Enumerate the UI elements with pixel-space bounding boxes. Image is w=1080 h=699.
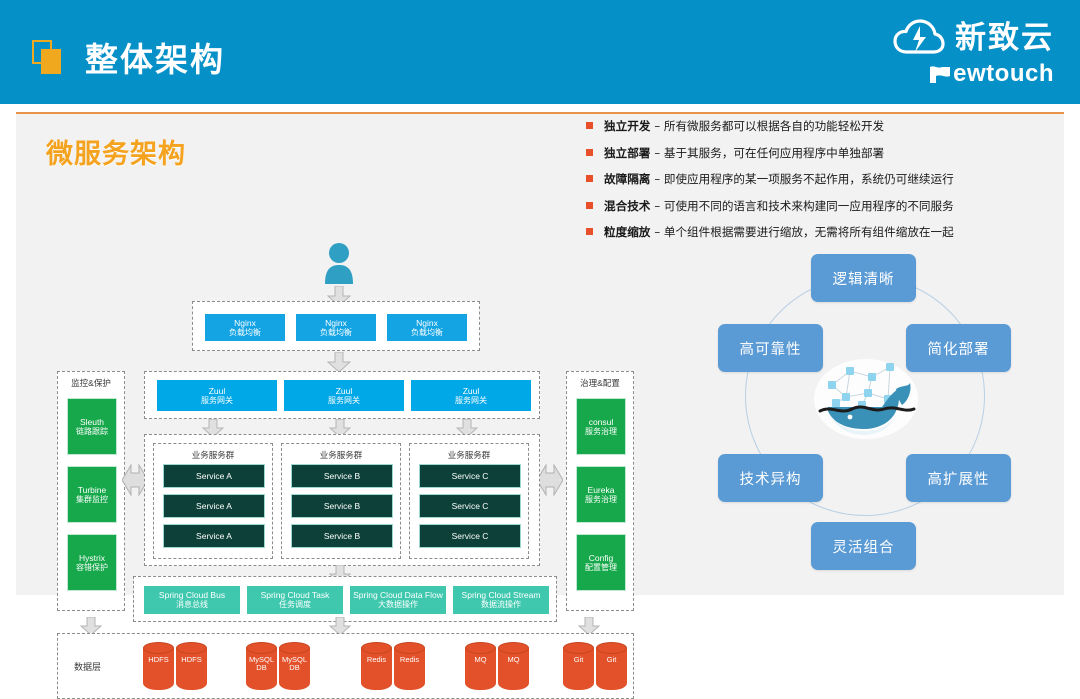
spring-cloud-stream-box: Spring Cloud Stream 数据流操作 <box>453 586 549 614</box>
zuul-box-1: Zuul 服务网关 <box>157 380 277 411</box>
config-box: Config 配置管理 <box>576 534 626 591</box>
cloud-lightning-icon <box>893 19 945 57</box>
service-box: Service A <box>163 494 265 518</box>
nginx-box-2: Nginx 负载均衡 <box>296 314 376 341</box>
page-header: 整体架构 新致云 ewtouch <box>0 0 1080 104</box>
service-box: Service C <box>419 524 521 548</box>
eureka-box: Eureka 服务治理 <box>576 466 626 523</box>
slide-content-panel: 微服务架构 Nginx 负载均衡 Nginx 负载均衡 Nginx 负载均衡 <box>16 112 1064 595</box>
service-box: Service B <box>291 494 393 518</box>
list-item: 独立开发 – 所有微服务都可以根据各自的功能轻松开发 <box>586 118 1064 134</box>
datastore-cylinder: Redis <box>361 642 392 694</box>
service-box: Service B <box>291 524 393 548</box>
service-group-b-label: 业务服务群 <box>282 449 400 461</box>
zuul-tier-container: Zuul 服务网关 Zuul 服务网关 Zuul 服务网关 <box>144 371 540 419</box>
list-item: 粒度缩放 – 单个组件根据需要进行缩放，无需将所有组件缩放在一起 <box>586 224 1064 240</box>
service-box: Service C <box>419 464 521 488</box>
sleuth-box: Sleuth 链路跟踪 <box>67 398 117 455</box>
data-tier-container: 数据层 HDFS HDFS MySQL DB MySQL DB Redis Re… <box>57 633 634 699</box>
circle-node-logic-clear[interactable]: 逻辑清晰 <box>811 254 916 302</box>
bullet-square-icon <box>586 228 593 235</box>
datastore-cylinder: MQ <box>498 642 529 694</box>
bullet-square-icon <box>586 122 593 129</box>
datastore-cylinder: MySQL DB <box>279 642 310 694</box>
list-item: 混合技术 – 可使用不同的语言和技术来构建同一应用程序的不同服务 <box>586 198 1064 214</box>
page-title: 整体架构 <box>85 33 225 81</box>
benefits-bullet-list: 独立开发 – 所有微服务都可以根据各自的功能轻松开发 独立部署 – 基于其服务，… <box>586 118 1064 251</box>
service-group-c-label: 业务服务群 <box>410 449 528 461</box>
list-item: 故障隔离 – 即使应用程序的某一项服务不起作用，系统仍可继续运行 <box>586 171 1064 187</box>
nginx-box-1: Nginx 负载均衡 <box>205 314 285 341</box>
datastore-cylinder: Git <box>563 642 594 694</box>
circle-node-high-scalability[interactable]: 高扩展性 <box>906 454 1011 502</box>
brand-logo: 新致云 ewtouch <box>824 18 1054 90</box>
user-person-icon <box>322 242 356 284</box>
bullet-square-icon <box>586 202 593 209</box>
logo-cn-text: 新致云 <box>955 19 1054 57</box>
service-box: Service B <box>291 464 393 488</box>
service-tier-container: 业务服务群 Service A Service A Service A 业务服务… <box>144 434 540 566</box>
arrow-left-right-icon <box>537 459 563 501</box>
service-box: Service A <box>163 524 265 548</box>
governance-sidebar-label: 治理&配置 <box>567 377 633 389</box>
zuul-box-3: Zuul 服务网关 <box>411 380 531 411</box>
logo-en-text: ewtouch <box>929 60 1054 88</box>
service-group-a: 业务服务群 Service A Service A Service A <box>153 443 273 559</box>
logo-en-label: ewtouch <box>953 60 1054 88</box>
service-group-c: 业务服务群 Service C Service C Service C <box>409 443 529 559</box>
datastore-cylinder: MySQL DB <box>246 642 277 694</box>
data-tier-label: 数据层 <box>74 660 101 673</box>
arrow-down-icon <box>327 352 351 372</box>
bullet-square-icon <box>586 175 593 182</box>
spring-cloud-task-box: Spring Cloud Task 任务调度 <box>247 586 343 614</box>
spring-cloud-tier-container: Spring Cloud Bus 消息总线 Spring Cloud Task … <box>133 576 557 622</box>
circle-node-high-reliability[interactable]: 高可靠性 <box>718 324 823 372</box>
service-group-b: 业务服务群 Service B Service B Service B <box>281 443 401 559</box>
docker-whale-icon <box>810 349 922 443</box>
zuul-box-2: Zuul 服务网关 <box>284 380 404 411</box>
architecture-title: 微服务架构 <box>46 132 186 171</box>
datastore-cylinder: MQ <box>465 642 496 694</box>
monitoring-sidebar: 监控&保护 Sleuth 链路跟踪 Turbine 集群监控 Hystrix 容… <box>57 371 125 611</box>
service-group-a-label: 业务服务群 <box>154 449 272 461</box>
newtouch-n-flag-icon <box>929 65 951 84</box>
circle-node-flexible-compose[interactable]: 灵活组合 <box>811 522 916 570</box>
governance-sidebar: 治理&配置 consul 服务治理 Eureka 服务治理 Config 配置管… <box>566 371 634 611</box>
datastore-cylinder: HDFS <box>176 642 207 694</box>
bullet-square-icon <box>586 149 593 156</box>
datastore-cylinder: Git <box>596 642 627 694</box>
turbine-box: Turbine 集群监控 <box>67 466 117 523</box>
orange-square-icon <box>32 40 62 74</box>
right-content-area: 独立开发 – 所有微服务都可以根据各自的功能轻松开发 独立部署 – 基于其服务，… <box>656 114 1064 597</box>
docker-benefits-circle-diagram: 逻辑清晰 简化部署 高扩展性 灵活组合 技术异构 高可靠性 <box>666 254 1064 594</box>
service-box: Service C <box>419 494 521 518</box>
spring-cloud-bus-box: Spring Cloud Bus 消息总线 <box>144 586 240 614</box>
datastore-cylinder: HDFS <box>143 642 174 694</box>
microservice-architecture-diagram: 微服务架构 Nginx 负载均衡 Nginx 负载均衡 Nginx 负载均衡 <box>16 114 656 597</box>
service-box: Service A <box>163 464 265 488</box>
nginx-tier-container: Nginx 负载均衡 Nginx 负载均衡 Nginx 负载均衡 <box>192 301 480 351</box>
list-item: 独立部署 – 基于其服务，可在任何应用程序中单独部署 <box>586 145 1064 161</box>
circle-node-tech-heterogeneous[interactable]: 技术异构 <box>718 454 823 502</box>
datastore-cylinder: Redis <box>394 642 425 694</box>
monitoring-sidebar-label: 监控&保护 <box>58 377 124 389</box>
spring-cloud-data-flow-box: Spring Cloud Data Flow 大数据操作 <box>350 586 446 614</box>
nginx-box-3: Nginx 负载均衡 <box>387 314 467 341</box>
consul-box: consul 服务治理 <box>576 398 626 455</box>
hystrix-box: Hystrix 容错保护 <box>67 534 117 591</box>
